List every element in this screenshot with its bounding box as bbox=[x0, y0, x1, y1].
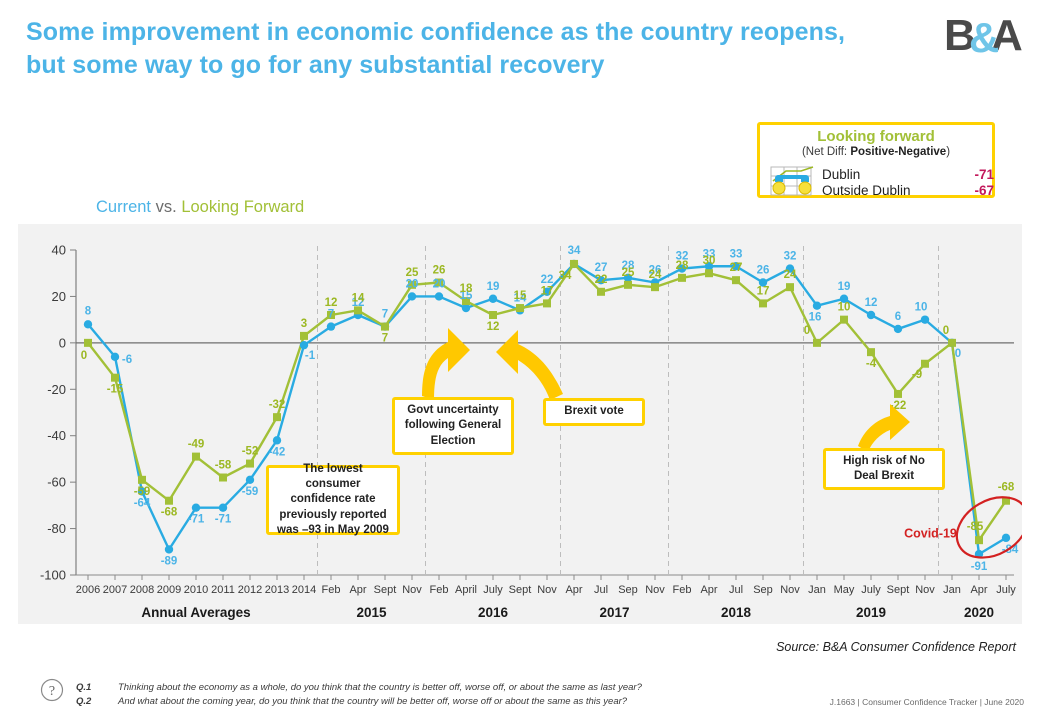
looking-forward-legend-box: Looking forward (Net Diff: Positive-Nega… bbox=[757, 122, 995, 198]
data-label: 6 bbox=[895, 311, 901, 323]
covid-highlight-ellipse bbox=[946, 485, 1022, 570]
x-axis-tick-label: 2014 bbox=[292, 584, 316, 596]
brand-logo-icon: B A & bbox=[944, 10, 1024, 62]
data-label: 0 bbox=[804, 325, 810, 337]
data-label: 27 bbox=[595, 262, 608, 274]
data-label: -15 bbox=[107, 384, 124, 396]
y-axis-tick-label: 20 bbox=[52, 289, 66, 304]
x-axis-tick-label: Jan bbox=[943, 584, 961, 596]
x-axis-group-label: 2019 bbox=[856, 605, 886, 620]
svg-text:&: & bbox=[969, 14, 999, 61]
data-label: -1 bbox=[305, 350, 316, 362]
data-point-marker bbox=[381, 323, 389, 331]
legend-subheading-suffix: ) bbox=[946, 146, 950, 158]
data-label: -89 bbox=[161, 555, 178, 567]
data-label: 26 bbox=[757, 265, 770, 277]
data-point-marker bbox=[273, 436, 281, 444]
legend-row-outside-dublin-value: -67 bbox=[974, 183, 994, 199]
x-axis-tick-label: Apr bbox=[565, 584, 582, 596]
data-point-marker bbox=[273, 413, 281, 421]
legend-row-outside-dublin: Outside Dublin -67 bbox=[822, 183, 994, 199]
chart-subtitle-looking-forward: Looking Forward bbox=[181, 198, 304, 216]
y-axis-tick-label: 0 bbox=[59, 335, 66, 350]
data-label: 8 bbox=[85, 305, 92, 317]
binoculars-icon bbox=[768, 165, 818, 197]
x-axis-tick-label: Jan bbox=[808, 584, 826, 596]
y-axis-tick-label: -40 bbox=[47, 428, 66, 443]
x-axis-tick-label: Feb bbox=[322, 584, 341, 596]
x-axis-tick-label: 2006 bbox=[76, 584, 100, 596]
data-label: -71 bbox=[215, 514, 232, 526]
data-label: 0 bbox=[955, 348, 961, 360]
x-axis-tick-label: Apr bbox=[970, 584, 987, 596]
data-label: -85 bbox=[967, 521, 984, 533]
chart-subtitle: Current vs. Looking Forward bbox=[96, 198, 304, 217]
x-axis-tick-label: 2008 bbox=[130, 584, 154, 596]
footer-q2-text: And what about the coming year, do you t… bbox=[118, 696, 627, 707]
data-label: 34 bbox=[559, 270, 572, 282]
data-point-marker bbox=[840, 316, 848, 324]
data-label: 7 bbox=[382, 309, 388, 321]
data-point-marker bbox=[516, 304, 524, 312]
page-title: Some improvement in economic confidence … bbox=[26, 16, 876, 82]
data-point-marker bbox=[165, 545, 173, 553]
data-label: -64 bbox=[134, 497, 151, 509]
x-axis-group-label: 2015 bbox=[356, 605, 387, 620]
data-point-marker bbox=[327, 322, 335, 330]
x-axis-tick-label: Nov bbox=[915, 584, 935, 596]
data-label: 19 bbox=[487, 281, 500, 293]
data-label: -59 bbox=[242, 486, 259, 498]
data-label: 30 bbox=[703, 255, 716, 267]
x-axis-tick-label: 2009 bbox=[157, 584, 181, 596]
data-label: -52 bbox=[242, 446, 259, 458]
x-axis-tick-label: 2013 bbox=[265, 584, 289, 596]
data-label: 25 bbox=[406, 267, 419, 279]
data-label: 27 bbox=[730, 262, 743, 274]
x-axis-tick-label: May bbox=[834, 584, 855, 596]
y-axis-tick-label: -60 bbox=[47, 475, 66, 490]
data-point-marker bbox=[111, 374, 119, 382]
data-point-marker bbox=[543, 299, 551, 307]
data-point-marker bbox=[651, 283, 659, 291]
x-axis-tick-label: Sept bbox=[374, 584, 397, 596]
x-axis-tick-label: Sept bbox=[887, 584, 910, 596]
x-axis-tick-label: Nov bbox=[780, 584, 800, 596]
data-label: 20 bbox=[406, 278, 419, 290]
footer-q1-text: Thinking about the economy as a whole, d… bbox=[118, 682, 642, 693]
data-label: -59 bbox=[134, 486, 151, 498]
legend-row-dublin-label: Dublin bbox=[822, 167, 860, 183]
data-label: 19 bbox=[838, 281, 851, 293]
data-label: 12 bbox=[865, 297, 878, 309]
question-mark-icon: ? bbox=[40, 678, 64, 702]
data-label: 33 bbox=[730, 248, 743, 260]
data-point-marker bbox=[246, 476, 254, 484]
legend-row-dublin-value: -71 bbox=[974, 167, 994, 183]
data-point-marker bbox=[192, 503, 200, 511]
data-point-marker bbox=[462, 304, 470, 312]
x-axis-tick-label: July bbox=[483, 584, 503, 596]
data-point-marker bbox=[300, 341, 308, 349]
data-point-marker bbox=[435, 292, 443, 300]
data-label: 22 bbox=[595, 274, 608, 286]
x-axis-tick-label: 2010 bbox=[184, 584, 208, 596]
data-point-marker bbox=[867, 348, 875, 356]
data-label: 12 bbox=[325, 297, 338, 309]
data-point-marker bbox=[867, 311, 875, 319]
x-axis-tick-label: Nov bbox=[537, 584, 557, 596]
x-axis-group-label: 2018 bbox=[721, 605, 752, 620]
data-label: 25 bbox=[622, 267, 635, 279]
legend-subheading: (Net Diff: Positive-Negative) bbox=[760, 146, 992, 158]
data-point-marker bbox=[408, 292, 416, 300]
x-axis-group-label: Annual Averages bbox=[141, 605, 250, 620]
chart-subtitle-vs: vs. bbox=[156, 198, 177, 216]
legend-rows: Dublin -71 Outside Dublin -67 bbox=[822, 167, 994, 199]
callout-arrow-icon bbox=[496, 330, 563, 400]
data-point-marker bbox=[921, 315, 929, 323]
data-label: 20 bbox=[433, 278, 446, 290]
data-label: 15 bbox=[514, 290, 527, 302]
data-point-marker bbox=[192, 453, 200, 461]
data-point-marker bbox=[624, 281, 632, 289]
x-axis-tick-label: 2012 bbox=[238, 584, 262, 596]
footer-q2-key: Q.2 bbox=[76, 696, 91, 707]
legend-subheading-prefix: (Net Diff: bbox=[802, 146, 850, 158]
data-point-marker bbox=[219, 503, 227, 511]
data-label: 10 bbox=[838, 302, 851, 314]
svg-text:?: ? bbox=[49, 684, 55, 699]
data-label: -32 bbox=[269, 399, 286, 411]
data-point-marker bbox=[705, 269, 713, 277]
data-label: 10 bbox=[915, 302, 928, 314]
data-point-marker bbox=[678, 274, 686, 282]
data-label: -68 bbox=[161, 507, 178, 519]
x-axis-tick-label: Nov bbox=[402, 584, 422, 596]
data-label: -84 bbox=[1002, 544, 1019, 556]
annotation-no-deal-brexit: High risk of No Deal Brexit bbox=[823, 448, 945, 490]
data-point-marker bbox=[786, 283, 794, 291]
x-axis-group-label: 2017 bbox=[599, 605, 629, 620]
footer-job-reference: J.1663 | Consumer Confidence Tracker | J… bbox=[830, 697, 1024, 707]
data-point-marker bbox=[975, 536, 983, 544]
y-axis-tick-label: -80 bbox=[47, 521, 66, 536]
data-point-marker bbox=[1002, 534, 1010, 542]
data-point-marker bbox=[165, 497, 173, 505]
data-point-marker bbox=[84, 339, 92, 347]
data-point-marker bbox=[219, 474, 227, 482]
data-label: 0 bbox=[943, 325, 949, 337]
legend-subheading-bold: Positive-Negative bbox=[850, 146, 946, 158]
chart-subtitle-current: Current bbox=[96, 198, 151, 216]
y-axis-tick-label: -20 bbox=[47, 382, 66, 397]
x-axis-tick-label: Jul bbox=[729, 584, 743, 596]
callout-arrow-icon bbox=[422, 328, 470, 400]
data-label: 24 bbox=[649, 269, 662, 281]
data-point-marker bbox=[732, 276, 740, 284]
data-label: -49 bbox=[188, 439, 205, 451]
data-point-marker bbox=[597, 288, 605, 296]
data-point-marker bbox=[300, 332, 308, 340]
data-point-marker bbox=[84, 320, 92, 328]
data-label: -6 bbox=[122, 354, 132, 366]
x-axis-tick-label: July bbox=[996, 584, 1016, 596]
x-axis-tick-label: July bbox=[861, 584, 881, 596]
data-label: 18 bbox=[460, 283, 473, 295]
annotation-brexit-vote: Brexit vote bbox=[543, 398, 645, 426]
data-label: 16 bbox=[809, 312, 822, 324]
x-axis-tick-label: Sep bbox=[753, 584, 773, 596]
data-label: -4 bbox=[866, 358, 877, 370]
legend-row-outside-dublin-label: Outside Dublin bbox=[822, 183, 911, 199]
data-point-marker bbox=[948, 339, 956, 347]
source-note: Source: B&A Consumer Confidence Report bbox=[776, 640, 1016, 654]
line-chart: 40200-20-40-60-80-1002006200720082009201… bbox=[18, 224, 1022, 624]
data-point-marker bbox=[111, 353, 119, 361]
slide-root: Some improvement in economic confidence … bbox=[0, 0, 1040, 720]
x-axis-tick-label: Sep bbox=[618, 584, 638, 596]
data-label: 12 bbox=[487, 321, 500, 333]
x-axis-tick-label: Apr bbox=[349, 584, 366, 596]
data-label: 17 bbox=[541, 285, 554, 297]
data-label: 22 bbox=[541, 274, 554, 286]
data-label: 28 bbox=[676, 260, 689, 272]
data-label: 32 bbox=[784, 251, 797, 263]
annotation-govt-uncertainty: Govt uncertainty following General Elect… bbox=[392, 397, 514, 455]
annotation-lowest-confidence: The lowest consumer confidence rate prev… bbox=[266, 465, 400, 535]
data-label: -71 bbox=[188, 514, 205, 526]
data-point-marker bbox=[570, 260, 578, 268]
data-label: 24 bbox=[784, 269, 797, 281]
x-axis-tick-label: Feb bbox=[430, 584, 449, 596]
x-axis-group-label: 2020 bbox=[964, 605, 994, 620]
x-axis-tick-label: Jul bbox=[594, 584, 608, 596]
data-point-marker bbox=[894, 325, 902, 333]
data-label: -68 bbox=[998, 482, 1015, 494]
chart-plot-area: 40200-20-40-60-80-1002006200720082009201… bbox=[18, 224, 1022, 624]
data-label: -42 bbox=[269, 446, 286, 458]
data-label: 26 bbox=[433, 265, 446, 277]
data-point-marker bbox=[813, 302, 821, 310]
y-axis-tick-label: -100 bbox=[40, 568, 66, 583]
data-label: 3 bbox=[301, 318, 307, 330]
data-point-marker bbox=[813, 339, 821, 347]
data-point-marker bbox=[921, 360, 929, 368]
y-axis-tick-label: 40 bbox=[52, 243, 66, 258]
legend-row-dublin: Dublin -71 bbox=[822, 167, 994, 183]
data-label: 17 bbox=[757, 285, 770, 297]
data-label: 7 bbox=[328, 309, 334, 321]
annotation-covid-label: Covid-19 bbox=[904, 526, 957, 540]
x-axis-tick-label: Sept bbox=[509, 584, 532, 596]
x-axis-group-label: 2016 bbox=[478, 605, 509, 620]
data-point-marker bbox=[138, 476, 146, 484]
data-label: -91 bbox=[971, 561, 988, 573]
footer-q1-key: Q.1 bbox=[76, 682, 91, 693]
x-axis-tick-label: 2011 bbox=[211, 584, 235, 596]
x-axis-tick-label: Nov bbox=[645, 584, 665, 596]
x-axis-tick-label: 2007 bbox=[103, 584, 127, 596]
data-point-marker bbox=[894, 390, 902, 398]
x-axis-tick-label: April bbox=[455, 584, 477, 596]
data-point-marker bbox=[489, 311, 497, 319]
data-label: 0 bbox=[81, 350, 87, 362]
data-label: 14 bbox=[352, 292, 365, 304]
x-axis-tick-label: Apr bbox=[700, 584, 717, 596]
data-point-marker bbox=[759, 299, 767, 307]
x-axis-tick-label: Feb bbox=[673, 584, 692, 596]
data-label: 34 bbox=[568, 245, 581, 257]
data-point-marker bbox=[489, 295, 497, 303]
data-label: 7 bbox=[382, 333, 388, 345]
data-label: -9 bbox=[912, 369, 922, 381]
legend-heading: Looking forward bbox=[760, 128, 992, 145]
data-label: -58 bbox=[215, 460, 232, 472]
data-point-marker bbox=[246, 460, 254, 468]
